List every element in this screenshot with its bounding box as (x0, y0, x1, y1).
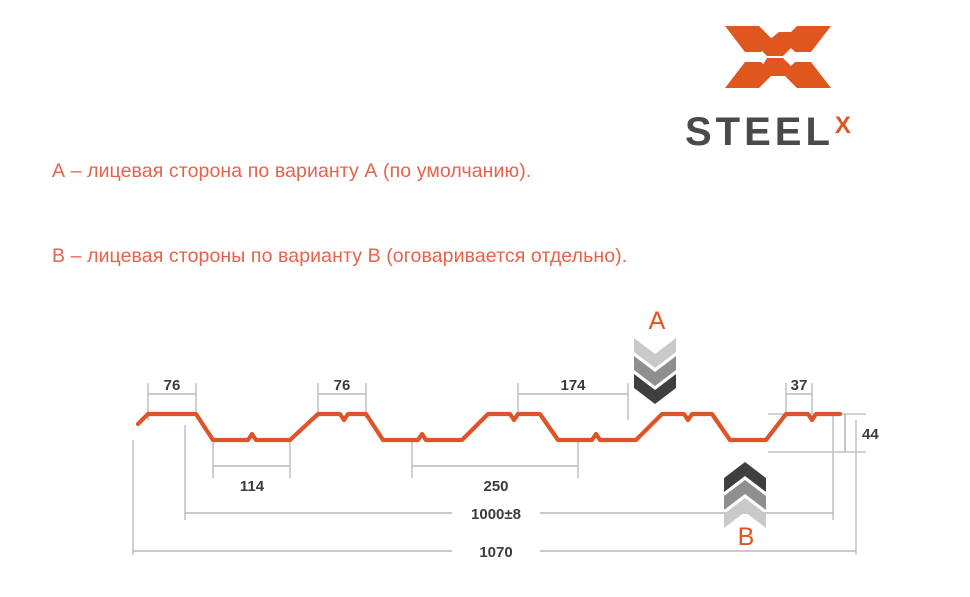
marker-a-chevrons (634, 338, 676, 404)
marker-b-label: B (726, 523, 766, 552)
drawing-page: STEEL X А – лицевая сторона по варианту … (0, 0, 970, 597)
dimension-labels: 76 76 174 37 44 114 250 1000±8 1070 (164, 377, 880, 561)
profile-outline (138, 414, 840, 440)
dimension-76-mid: 76 (334, 377, 351, 394)
marker-b-chevrons (724, 462, 766, 528)
dimension-44: 44 (862, 426, 879, 443)
dimension-76-left: 76 (164, 377, 181, 394)
marker-a-label: A (637, 307, 677, 336)
dimension-250: 250 (483, 478, 508, 495)
dimension-37: 37 (791, 377, 808, 394)
dimension-114: 114 (240, 478, 265, 495)
profile-technical-drawing: 76 76 174 37 44 114 250 1000±8 1070 (0, 0, 970, 597)
dimension-1000: 1000±8 (471, 506, 521, 523)
dimension-174: 174 (560, 377, 586, 394)
dimension-1070: 1070 (479, 544, 512, 561)
